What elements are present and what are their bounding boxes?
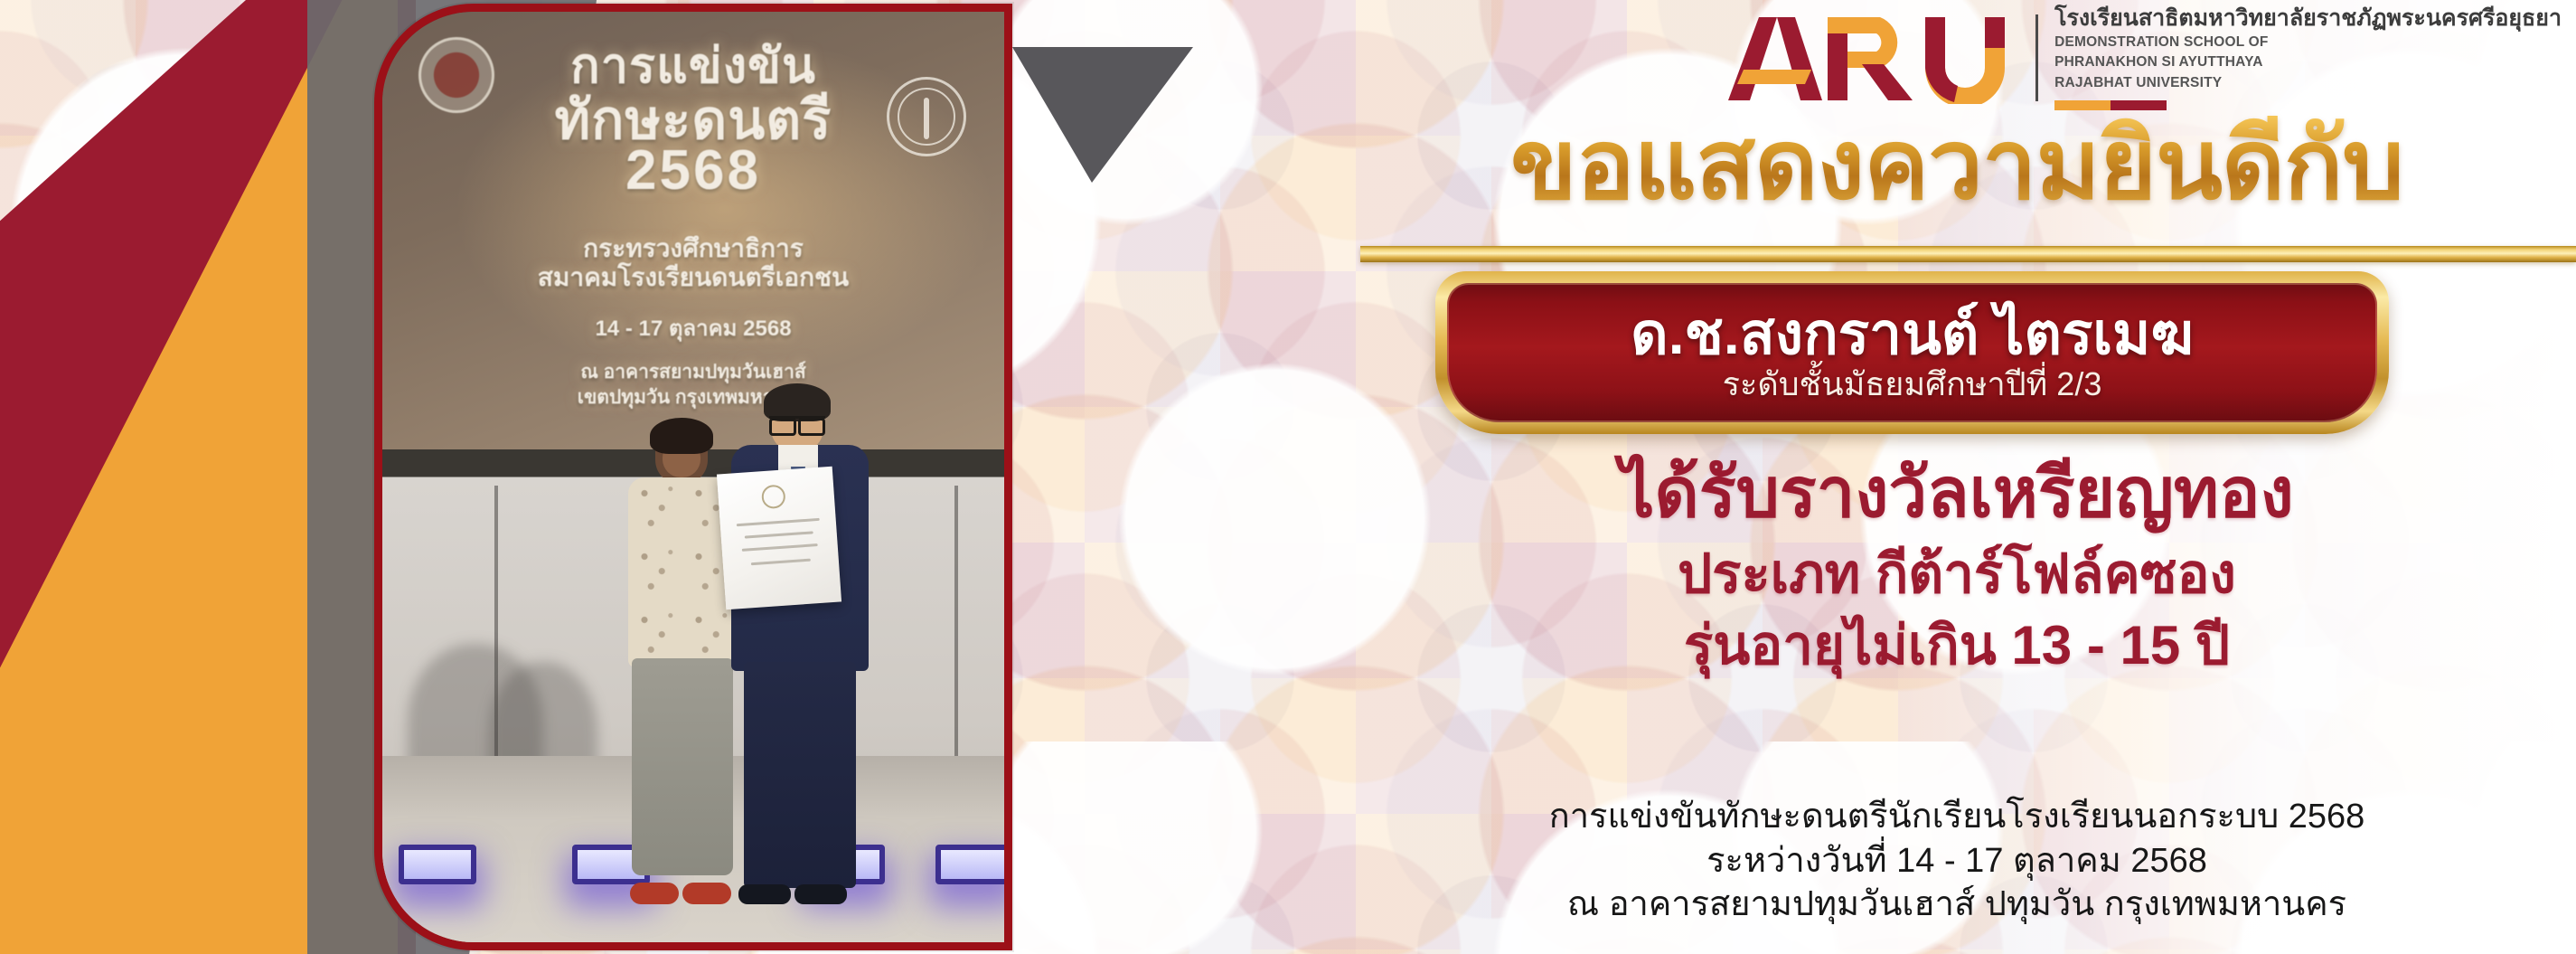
aru-logo: โรงเรียนสาธิตมหาวิทยาลัยราชภัฏพระนครศรีอ… [1721, 5, 2562, 110]
presenter-shoe [794, 884, 847, 904]
award-category: ประเภท กีต้าร์โฟล์คซอง [1338, 540, 2576, 609]
aru-logomark-icon [1721, 12, 2019, 104]
certificate-text-line [742, 543, 818, 552]
photo-image: การแข่งขัน ทักษะดนตรี 2568 กระทรวงศึกษาธ… [382, 12, 1004, 942]
certificate-text-line [737, 518, 820, 526]
certificate-document [717, 467, 841, 610]
presenter-shoe [738, 884, 791, 904]
award-age-group: รุ่นอายุไม่เกิน 13 - 15 ปี [1338, 611, 2576, 681]
school-name-english-line1: DEMONSTRATION SCHOOL OF [2054, 33, 2562, 52]
student-trousers [632, 658, 733, 875]
ministry-emblem-icon [418, 37, 494, 113]
projection-screen: การแข่งขัน ทักษะดนตรี 2568 กระทรวงศึกษาธ… [382, 12, 1004, 449]
recipient-name-badge-inner: ด.ช.สงกรานต์ ไตรเมฆ ระดับชั้นมัธยมศึกษาป… [1447, 283, 2377, 422]
event-name: การแข่งขันทักษะดนตรีนักเรียนโรงเรียนนอกร… [1338, 795, 2576, 839]
stage-light [399, 845, 476, 884]
event-venue: ณ อาคารสยามปทุมวันเฮาส์ ปทุมวัน กรุงเทพม… [1338, 883, 2576, 927]
glasses-icon [769, 416, 825, 428]
recipient-name-badge: ด.ช.สงกรานต์ ไตรเมฆ ระดับชั้นมัธยมศึกษาป… [1435, 271, 2389, 434]
screen-date: 14 - 17 ตุลาคม 2568 [382, 310, 1004, 345]
school-name-english-line2: PHRANAKHON SI AYUTTHAYA [2054, 53, 2562, 71]
recipient-name: ด.ช.สงกรานต์ ไตรเมฆ [1631, 304, 2194, 364]
presenter-trousers [744, 662, 856, 888]
school-name-thai: โรงเรียนสาธิตมหาวิทยาลัยราชภัฏพระนครศรีอ… [2054, 5, 2562, 32]
stage-light [935, 845, 1012, 884]
screen-subtitle-line1: กระทรวงศึกษาธิการ [382, 229, 1004, 269]
screen-place-line1: ณ อาคารสยามปทุมวันเฮาส์ [382, 357, 1004, 387]
gold-divider-bar [1360, 246, 2576, 262]
event-dates: ระหว่างวันที่ 14 - 17 ตุลาคม 2568 [1338, 839, 2576, 883]
presenter-figure [724, 389, 878, 895]
award-title: ได้รับรางวัลเหรียญทอง [1338, 452, 2576, 534]
logo-text-block: โรงเรียนสาธิตมหาวิทยาลัยราชภัฏพระนครศรีอ… [2054, 5, 2562, 110]
student-hair [650, 418, 713, 454]
award-photo: การแข่งขัน ทักษะดนตรี 2568 กระทรวงศึกษาธ… [374, 4, 1012, 950]
recipient-grade-level: ระดับชั้นมัธยมศึกษาปีที่ 2/3 [1723, 366, 2102, 402]
certificate-text-line [751, 559, 811, 566]
content-panel: โรงเรียนสาธิตมหาวิทยาลัยราชภัฏพระนครศรีอ… [1338, 0, 2576, 954]
school-name-english-line3: RAJABHAT UNIVERSITY [2054, 74, 2562, 92]
screen-subtitle-line2: สมาคมโรงเรียนดนตรีเอกชน [382, 258, 1004, 298]
congratulation-banner: การแข่งขัน ทักษะดนตรี 2568 กระทรวงศึกษาธ… [0, 0, 2576, 954]
event-details: การแข่งขันทักษะดนตรีนักเรียนโรงเรียนนอกร… [1338, 795, 2576, 927]
award-details: ได้รับรางวัลเหรียญทอง ประเภท กีต้าร์โฟล์… [1338, 452, 2576, 681]
congratulation-heading: ขอแสดงความยินดีกับ [1338, 116, 2576, 213]
certificate-seal-icon [761, 484, 786, 509]
certificate-text-line [745, 531, 813, 538]
screen-place-line2: เขตปทุมวัน กรุงเทพมหานคร [382, 383, 1004, 412]
logo-divider [2035, 14, 2038, 101]
music-association-emblem-icon [887, 77, 966, 156]
student-shoe [630, 883, 679, 904]
